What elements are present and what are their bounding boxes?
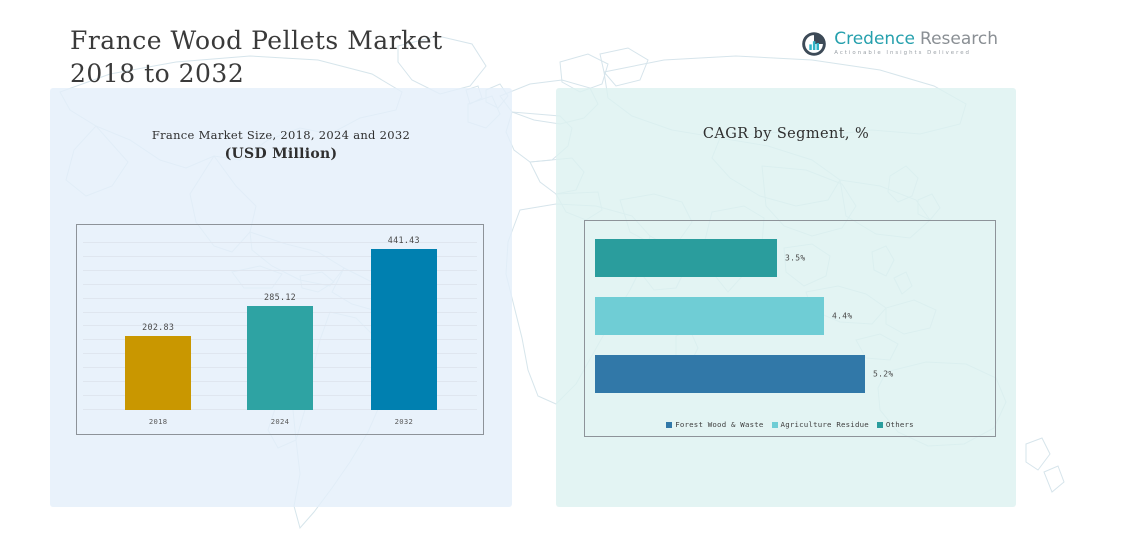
logo-name-primary: Credence — [834, 31, 915, 48]
bar-value-label: 441.43 — [388, 235, 420, 245]
bar-group: 202.83 — [125, 334, 191, 410]
bar-group: 441.43 — [371, 247, 437, 410]
legend-label: Forest Wood & Waste — [675, 420, 763, 429]
legend-item[interactable]: Agriculture Residue — [772, 420, 869, 429]
legend-label: Others — [886, 420, 914, 429]
left-chart-title-line1: France Market Size, 2018, 2024 and 2032 — [50, 128, 512, 142]
cagr-legend: Forest Wood & WasteAgriculture ResidueOt… — [585, 420, 995, 429]
market-size-chart-frame: 202.832018285.122024441.432032 — [76, 224, 484, 435]
legend-swatch — [877, 422, 883, 428]
x-axis-tick-label: 2024 — [271, 417, 290, 426]
bar-row: 3.5% — [595, 239, 995, 277]
x-axis-tick-label: 2032 — [395, 417, 414, 426]
logo-name-secondary: Research — [920, 31, 998, 48]
credence-bar-chart-circle-icon — [801, 31, 827, 57]
cagr-chart-frame: Forest Wood & WasteAgriculture ResidueOt… — [584, 220, 996, 437]
bar-row: 5.2% — [595, 355, 995, 393]
left-chart-title-line2: (USD Million) — [50, 146, 512, 162]
bar-value-label: 285.12 — [264, 292, 296, 302]
bar[interactable] — [595, 297, 824, 335]
legend-swatch — [772, 422, 778, 428]
bar[interactable] — [125, 336, 191, 410]
right-chart-title: CAGR by Segment, % — [556, 126, 1016, 142]
x-axis-tick-label: 2018 — [149, 417, 168, 426]
bar-value-label: 5.2% — [873, 370, 893, 379]
bar-group: 285.12 — [247, 304, 313, 410]
infographic-canvas: France Wood Pellets Market 2018 to 2032 … — [0, 0, 1138, 535]
legend-item[interactable]: Others — [877, 420, 914, 429]
legend-item[interactable]: Forest Wood & Waste — [666, 420, 763, 429]
bar-value-label: 202.83 — [142, 322, 174, 332]
market-size-panel: France Market Size, 2018, 2024 and 2032 … — [50, 88, 512, 507]
legend-swatch — [666, 422, 672, 428]
cagr-bar-chart: Forest Wood & WasteAgriculture ResidueOt… — [585, 221, 995, 436]
logo-wordmark: Credence Research Actionable Insights De… — [834, 31, 998, 56]
bar-value-label: 4.4% — [832, 312, 852, 321]
bar[interactable] — [595, 355, 865, 393]
market-size-bar-chart: 202.832018285.122024441.432032 — [77, 225, 483, 434]
cagr-panel: CAGR by Segment, % Forest Wood & WasteAg… — [556, 88, 1016, 507]
bar-row: 4.4% — [595, 297, 995, 335]
page-title: France Wood Pellets Market 2018 to 2032 — [70, 24, 630, 91]
bar-value-label: 3.5% — [785, 254, 805, 263]
bar[interactable] — [595, 239, 777, 277]
legend-label: Agriculture Residue — [781, 420, 869, 429]
bar[interactable] — [247, 306, 313, 410]
bar[interactable] — [371, 249, 437, 410]
credence-research-logo[interactable]: Credence Research Actionable Insights De… — [801, 31, 998, 57]
logo-tagline: Actionable Insights Delivered — [834, 51, 998, 56]
